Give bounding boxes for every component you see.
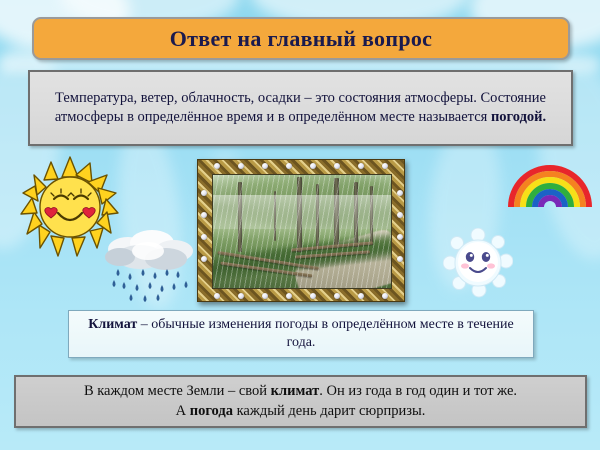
conclusion-line1-term: климат xyxy=(271,383,320,399)
frame-jewel xyxy=(262,293,268,299)
conclusion-text: В каждом месте Земли – свой климат. Он и… xyxy=(84,382,517,420)
rainy-park-photo xyxy=(212,174,392,289)
frame-jewel xyxy=(358,163,364,169)
conclusion-line2-a: А xyxy=(176,403,190,419)
conclusion-line2-b: каждый день дарит сюрпризы. xyxy=(233,403,425,419)
frame-jewel xyxy=(397,212,403,218)
frame-jewel xyxy=(397,256,403,262)
frame-jewel xyxy=(286,293,292,299)
page-title: Ответ на главный вопрос xyxy=(170,26,432,52)
frame-jewel xyxy=(382,163,388,169)
climate-definition-box: Климат – обычные изменения погоды в опре… xyxy=(68,310,534,358)
definition-box: Температура, ветер, облачность, осадки –… xyxy=(28,70,573,146)
climate-term: Климат xyxy=(88,317,137,332)
frame-jewel xyxy=(310,293,316,299)
slide-canvas: Ответ на главный вопрос Температура, вет… xyxy=(0,0,600,450)
photo-frame xyxy=(197,159,405,302)
definition-text: Температура, ветер, облачность, осадки –… xyxy=(40,89,561,127)
rain-cloud-icon xyxy=(100,225,200,305)
conclusion-line2-term: погода xyxy=(190,403,233,419)
frame-jewel xyxy=(238,163,244,169)
frame-jewel xyxy=(286,163,292,169)
rainbow-icon xyxy=(506,158,594,208)
frame-jewel xyxy=(201,234,207,240)
frame-jewel xyxy=(334,163,340,169)
frame-jewel xyxy=(358,293,364,299)
frame-jewel xyxy=(397,234,403,240)
climate-body: – обычные изменения погоды в определённо… xyxy=(137,317,513,350)
conclusion-line1-b: . Он из года в год один и тот же. xyxy=(319,383,517,399)
frame-jewel xyxy=(214,293,220,299)
definition-body: Температура, ветер, облачность, осадки –… xyxy=(55,90,546,125)
title-banner: Ответ на главный вопрос xyxy=(32,17,570,60)
conclusion-box: В каждом месте Земли – свой климат. Он и… xyxy=(14,375,587,428)
conclusion-line1-a: В каждом месте Земли – свой xyxy=(84,383,271,399)
frame-jewel xyxy=(238,293,244,299)
definition-term: погодой. xyxy=(491,109,546,125)
frame-jewel xyxy=(310,163,316,169)
frame-jewel xyxy=(382,293,388,299)
frame-jewel xyxy=(201,256,207,262)
frame-jewel xyxy=(214,163,220,169)
frame-jewel xyxy=(397,190,403,196)
frame-jewel xyxy=(262,163,268,169)
climate-text: Климат – обычные изменения погоды в опре… xyxy=(77,316,525,352)
frame-jewel xyxy=(334,293,340,299)
frame-jewel xyxy=(201,212,207,218)
frame-jewel xyxy=(201,190,207,196)
snowflake-icon xyxy=(443,228,513,298)
